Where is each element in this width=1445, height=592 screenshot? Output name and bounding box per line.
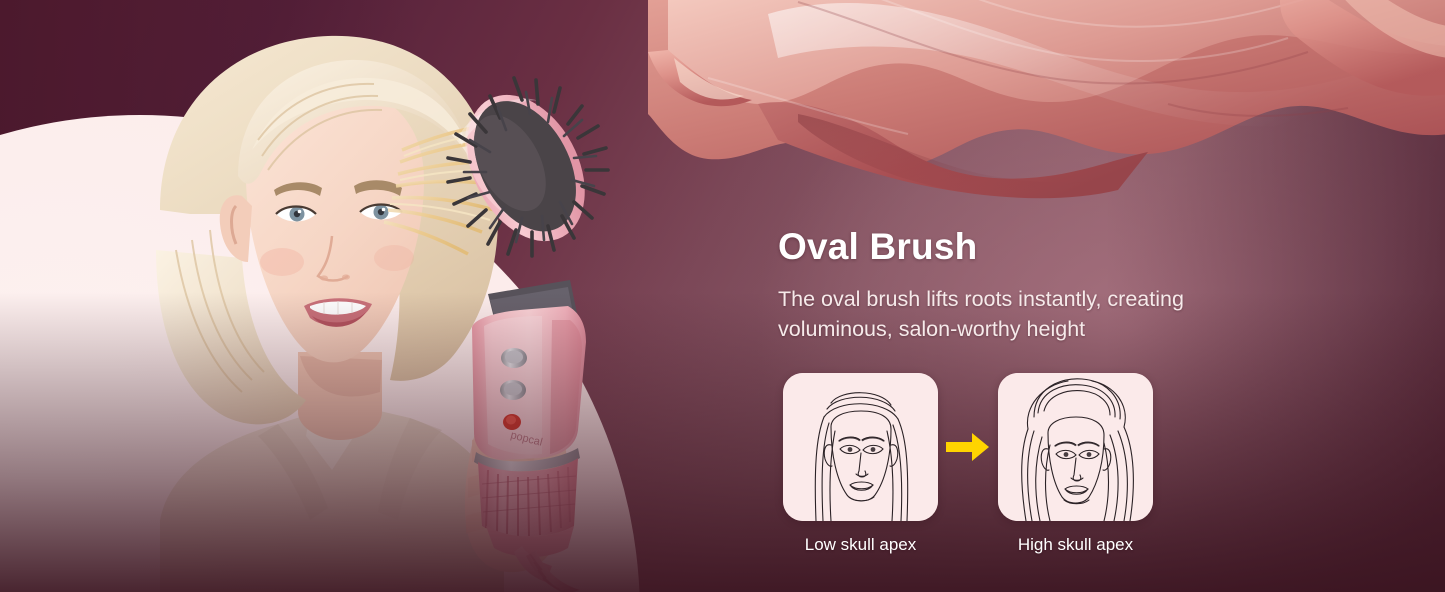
page-title: Oval Brush [778, 224, 1398, 270]
high-skull-apex-face-icon [998, 373, 1153, 521]
comparison-captions: Low skull apex High skull apex [783, 534, 1163, 556]
skull-apex-comparison: Low skull apex High skull apex [783, 373, 1163, 556]
product-feature-banner: popcal [0, 0, 1445, 592]
right-arrow-icon [946, 432, 990, 462]
copy-block: Oval Brush The oval brush lifts roots in… [778, 224, 1398, 344]
low-skull-apex-face-icon [783, 373, 938, 521]
comparison-arrow [938, 432, 998, 462]
caption-low-skull-apex: Low skull apex [783, 534, 938, 556]
comparison-cards [783, 373, 1163, 521]
silk-fabric-decor [648, 0, 1445, 204]
subtitle-line-2: voluminous, salon-worthy height [778, 314, 1278, 344]
caption-spacer [938, 534, 998, 556]
card-high-skull-apex[interactable] [998, 373, 1153, 521]
card-low-skull-apex[interactable] [783, 373, 938, 521]
caption-high-skull-apex: High skull apex [998, 534, 1153, 556]
subtitle-line-1: The oval brush lifts roots instantly, cr… [778, 284, 1278, 314]
